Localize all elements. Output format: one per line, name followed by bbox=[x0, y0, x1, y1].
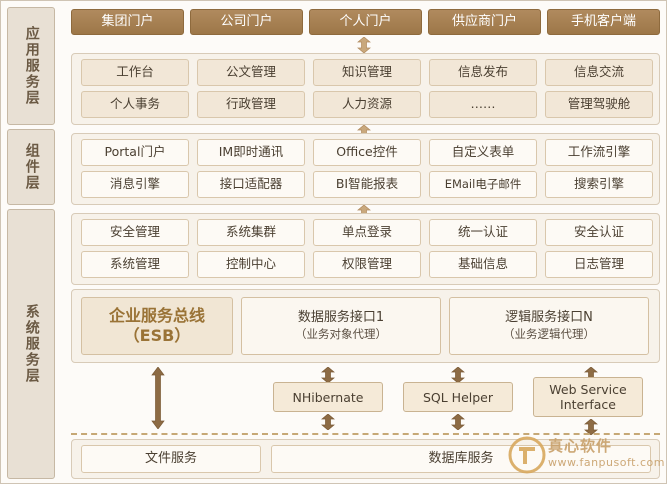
app-cell-1-3-label: …… bbox=[471, 97, 496, 111]
component-cell-0-3-label: 自定义表单 bbox=[452, 145, 515, 159]
system-cell-1-3[interactable]: 基础信息 bbox=[429, 251, 537, 278]
esb-title-line2: （ESB） bbox=[124, 326, 191, 346]
bottom-service-database-label: 数据库服务 bbox=[428, 452, 493, 467]
system-cell-1-0-label: 系统管理 bbox=[110, 257, 160, 271]
esb-service-0-title: 数据服务接口1 bbox=[298, 310, 384, 327]
layer-label-component: 组件层 bbox=[7, 129, 55, 205]
esb-title-line1: 企业服务总线 bbox=[109, 306, 205, 326]
app-cell-1-0-label: 个人事务 bbox=[110, 97, 160, 111]
app-cell-0-4[interactable]: 信息交流 bbox=[545, 59, 653, 86]
esb-service-1[interactable]: 逻辑服务接口N （业务逻辑代理） bbox=[449, 297, 649, 355]
portal-item-1[interactable]: 公司门户 bbox=[190, 9, 303, 35]
app-cell-1-2-label: 人力资源 bbox=[342, 97, 392, 111]
component-cell-0-1[interactable]: IM即时通讯 bbox=[197, 139, 305, 166]
portal-item-0[interactable]: 集团门户 bbox=[71, 9, 184, 35]
component-cell-0-0-label: Portal门户 bbox=[105, 145, 166, 159]
app-cell-0-3[interactable]: 信息发布 bbox=[429, 59, 537, 86]
system-cell-1-0[interactable]: 系统管理 bbox=[81, 251, 189, 278]
system-cell-0-1-label: 系统集群 bbox=[226, 225, 276, 239]
system-cell-0-2[interactable]: 单点登录 bbox=[313, 219, 421, 246]
system-cell-0-3-label: 统一认证 bbox=[458, 225, 508, 239]
system-cell-0-0-label: 安全管理 bbox=[110, 225, 160, 239]
app-cell-0-3-label: 信息发布 bbox=[458, 65, 508, 79]
app-cell-1-1-label: 行政管理 bbox=[226, 97, 276, 111]
component-cell-0-0[interactable]: Portal门户 bbox=[81, 139, 189, 166]
esb-service-1-sub: （业务逻辑代理） bbox=[503, 327, 595, 342]
component-cell-1-2-label: BI智能报表 bbox=[336, 177, 398, 191]
data-access-sql-helper[interactable]: SQL Helper bbox=[403, 382, 513, 412]
component-cell-0-1-label: IM即时通讯 bbox=[219, 145, 283, 159]
system-cell-0-0[interactable]: 安全管理 bbox=[81, 219, 189, 246]
system-cell-0-1[interactable]: 系统集群 bbox=[197, 219, 305, 246]
component-cell-1-0-label: 消息引擎 bbox=[110, 177, 160, 191]
component-cell-1-0[interactable]: 消息引擎 bbox=[81, 171, 189, 198]
layer-label-application: 应用服务层 bbox=[7, 7, 55, 125]
bottom-service-database[interactable]: 数据库服务 bbox=[271, 445, 651, 473]
component-cell-0-3[interactable]: 自定义表单 bbox=[429, 139, 537, 166]
data-access-nhibernate-label: NHibernate bbox=[293, 390, 364, 405]
system-cell-1-2[interactable]: 权限管理 bbox=[313, 251, 421, 278]
layer-label-system: 系统服务层 bbox=[7, 209, 55, 479]
arrow-esb-to-nhibernate bbox=[321, 367, 335, 383]
layer-label-application-text: 应用服务层 bbox=[22, 26, 40, 106]
app-cell-0-0-label: 工作台 bbox=[116, 65, 154, 79]
component-cell-1-3-label: EMail电子邮件 bbox=[445, 178, 522, 191]
component-cell-1-1-label: 接口适配器 bbox=[220, 177, 283, 191]
data-access-nhibernate[interactable]: NHibernate bbox=[273, 382, 383, 412]
system-cell-1-1-label: 控制中心 bbox=[226, 257, 276, 271]
app-cell-0-2[interactable]: 知识管理 bbox=[313, 59, 421, 86]
data-access-web-service-line2: Interface bbox=[560, 397, 616, 412]
arrow-esb-to-sql-helper bbox=[451, 367, 465, 383]
app-cell-0-4-label: 信息交流 bbox=[574, 65, 624, 79]
portal-item-0-label: 集团门户 bbox=[101, 15, 153, 30]
app-cell-0-2-label: 知识管理 bbox=[342, 65, 392, 79]
system-cell-1-3-label: 基础信息 bbox=[458, 257, 508, 271]
system-cell-1-2-label: 权限管理 bbox=[342, 257, 392, 271]
component-cell-1-2[interactable]: BI智能报表 bbox=[313, 171, 421, 198]
data-access-web-service[interactable]: Web Service Interface bbox=[533, 377, 643, 417]
component-cell-1-4[interactable]: 搜索引擎 bbox=[545, 171, 653, 198]
arrow-esb-to-file-service bbox=[151, 367, 165, 429]
system-cell-0-3[interactable]: 统一认证 bbox=[429, 219, 537, 246]
app-cell-1-2[interactable]: 人力资源 bbox=[313, 91, 421, 118]
app-cell-1-0[interactable]: 个人事务 bbox=[81, 91, 189, 118]
esb-title: 企业服务总线 （ESB） bbox=[81, 297, 233, 355]
component-cell-1-4-label: 搜索引擎 bbox=[574, 177, 624, 191]
component-cell-1-1[interactable]: 接口适配器 bbox=[197, 171, 305, 198]
bottom-service-file[interactable]: 文件服务 bbox=[81, 445, 261, 473]
system-cell-0-4-label: 安全认证 bbox=[574, 225, 624, 239]
portal-item-3-label: 供应商门户 bbox=[452, 15, 517, 30]
app-cell-1-3[interactable]: …… bbox=[429, 91, 537, 118]
app-cell-1-4[interactable]: 管理驾驶舱 bbox=[545, 91, 653, 118]
data-access-web-service-line1: Web Service bbox=[549, 382, 626, 397]
arrow-nhibernate-to-db bbox=[321, 414, 335, 430]
bottom-service-file-label: 文件服务 bbox=[145, 452, 197, 467]
portal-item-2[interactable]: 个人门户 bbox=[309, 9, 422, 35]
diagram-frame: 应用服务层 组件层 系统服务层 集团门户 公司门户 个人门户 供应商门户 手机客… bbox=[0, 0, 667, 484]
system-cell-1-4[interactable]: 日志管理 bbox=[545, 251, 653, 278]
arrow-portal-to-app bbox=[357, 37, 371, 53]
component-cell-0-2-label: Office控件 bbox=[336, 145, 398, 159]
portal-item-2-label: 个人门户 bbox=[339, 15, 391, 30]
portal-item-4-label: 手机客户端 bbox=[571, 15, 636, 30]
portal-item-1-label: 公司门户 bbox=[220, 15, 272, 30]
system-cell-1-1[interactable]: 控制中心 bbox=[197, 251, 305, 278]
component-cell-1-3[interactable]: EMail电子邮件 bbox=[429, 171, 537, 198]
app-cell-1-4-label: 管理驾驶舱 bbox=[568, 97, 631, 111]
esb-service-0[interactable]: 数据服务接口1 （业务对象代理） bbox=[241, 297, 441, 355]
dashed-separator bbox=[71, 433, 660, 435]
layer-label-component-text: 组件层 bbox=[22, 143, 40, 191]
arrow-sql-helper-to-db bbox=[451, 414, 465, 430]
app-cell-0-0[interactable]: 工作台 bbox=[81, 59, 189, 86]
portal-item-3[interactable]: 供应商门户 bbox=[428, 9, 541, 35]
system-cell-1-4-label: 日志管理 bbox=[574, 257, 624, 271]
system-cell-0-2-label: 单点登录 bbox=[342, 225, 392, 239]
portal-item-4[interactable]: 手机客户端 bbox=[547, 9, 660, 35]
esb-service-0-sub: （业务对象代理） bbox=[295, 327, 387, 342]
app-cell-0-1[interactable]: 公文管理 bbox=[197, 59, 305, 86]
data-access-sql-helper-label: SQL Helper bbox=[423, 390, 493, 405]
layer-label-system-text: 系统服务层 bbox=[22, 304, 40, 384]
component-cell-0-4-label: 工作流引擎 bbox=[568, 145, 631, 159]
app-cell-1-1[interactable]: 行政管理 bbox=[197, 91, 305, 118]
system-cell-0-4[interactable]: 安全认证 bbox=[545, 219, 653, 246]
component-cell-0-2[interactable]: Office控件 bbox=[313, 139, 421, 166]
esb-service-1-title: 逻辑服务接口N bbox=[505, 310, 593, 327]
component-cell-0-4[interactable]: 工作流引擎 bbox=[545, 139, 653, 166]
app-cell-0-1-label: 公文管理 bbox=[226, 65, 276, 79]
